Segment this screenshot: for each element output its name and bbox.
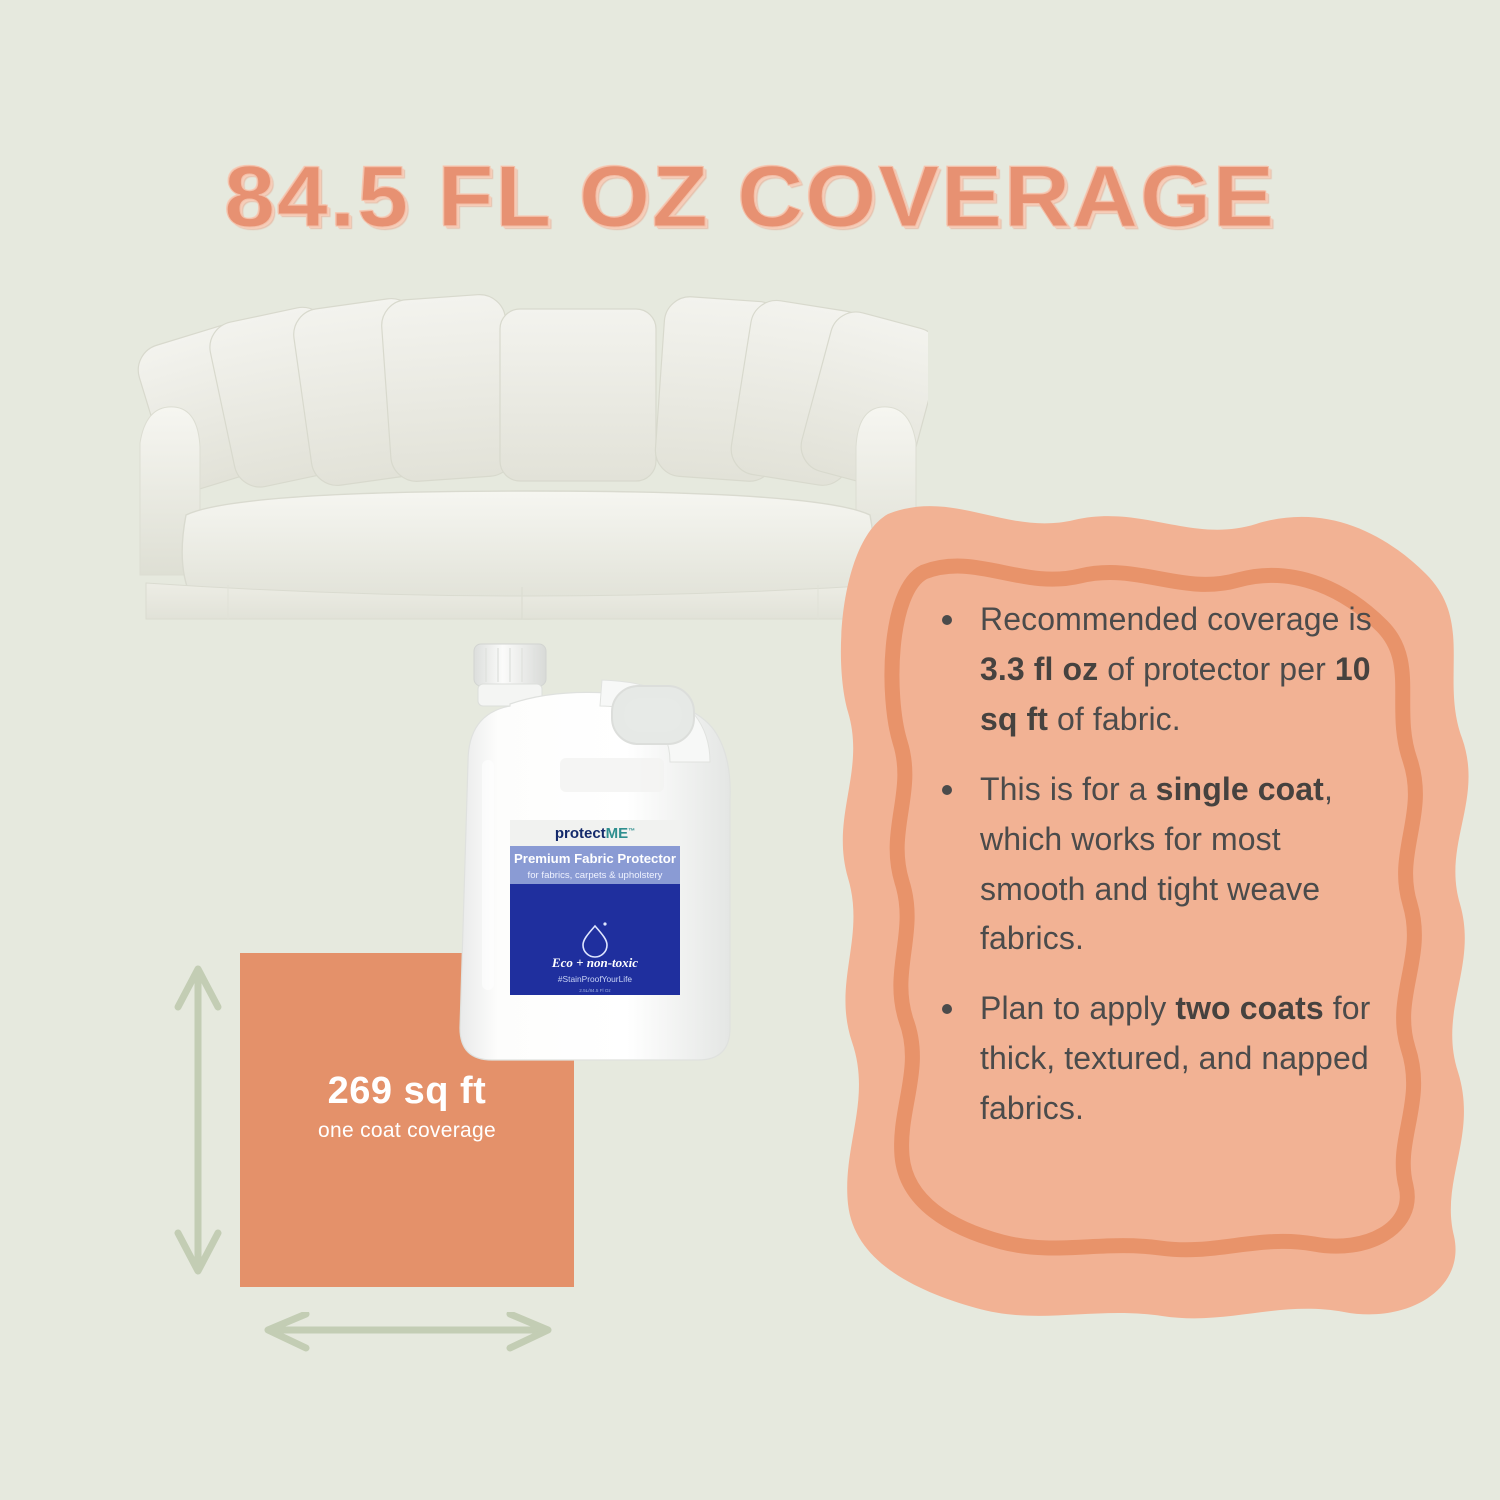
bullet-text: of protector per [1098, 651, 1335, 687]
info-card-body: Recommended coverage is 3.3 fl oz of pro… [934, 595, 1389, 1255]
bullet-text: Plan to apply [980, 990, 1175, 1026]
bullet-text: of fabric. [1048, 701, 1181, 737]
label-brand-accent: ME [606, 825, 629, 842]
page-title: 84.5 FL OZ COVERAGE [224, 148, 1276, 247]
label-brand-main: protect [555, 825, 606, 842]
svg-text:protectME™: protectME™ [555, 825, 635, 842]
page-title-wrapper: 84.5 FL OZ COVERAGE [0, 148, 1500, 247]
bullet-item: Plan to apply two coats for thick, textu… [934, 984, 1389, 1134]
bullet-text: This is for a [980, 771, 1156, 807]
label-volume: 2.5L/84.5 Fl Oz [579, 988, 611, 993]
horizontal-dimension-arrow-icon [258, 1312, 558, 1372]
label-product-subtitle: for fabrics, carpets & upholstery [528, 870, 663, 881]
bullet-item: Recommended coverage is 3.3 fl oz of pro… [934, 595, 1389, 745]
bullet-list: Recommended coverage is 3.3 fl oz of pro… [934, 595, 1389, 1134]
bullet-emphasis: two coats [1175, 990, 1323, 1026]
infographic-canvas: 84.5 FL OZ COVERAGE [0, 0, 1500, 1500]
bullet-emphasis: 3.3 fl oz [980, 651, 1098, 687]
bullet-emphasis: single coat [1156, 771, 1324, 807]
info-card: Recommended coverage is 3.3 fl oz of pro… [826, 500, 1486, 1330]
sofa-image [128, 283, 928, 623]
bullet-item: This is for a single coat, which works f… [934, 765, 1389, 965]
vertical-dimension-arrow-icon [168, 955, 228, 1285]
label-hashtag: #StainProofYourLife [558, 974, 633, 984]
label-eco-script: Eco + non-toxic [551, 955, 638, 970]
bullet-text: Recommended coverage is [980, 601, 1372, 637]
label-product-name: Premium Fabric Protector [514, 851, 676, 866]
product-bottle-image: protectME™ Premium Fabric Protector for … [452, 640, 734, 1070]
